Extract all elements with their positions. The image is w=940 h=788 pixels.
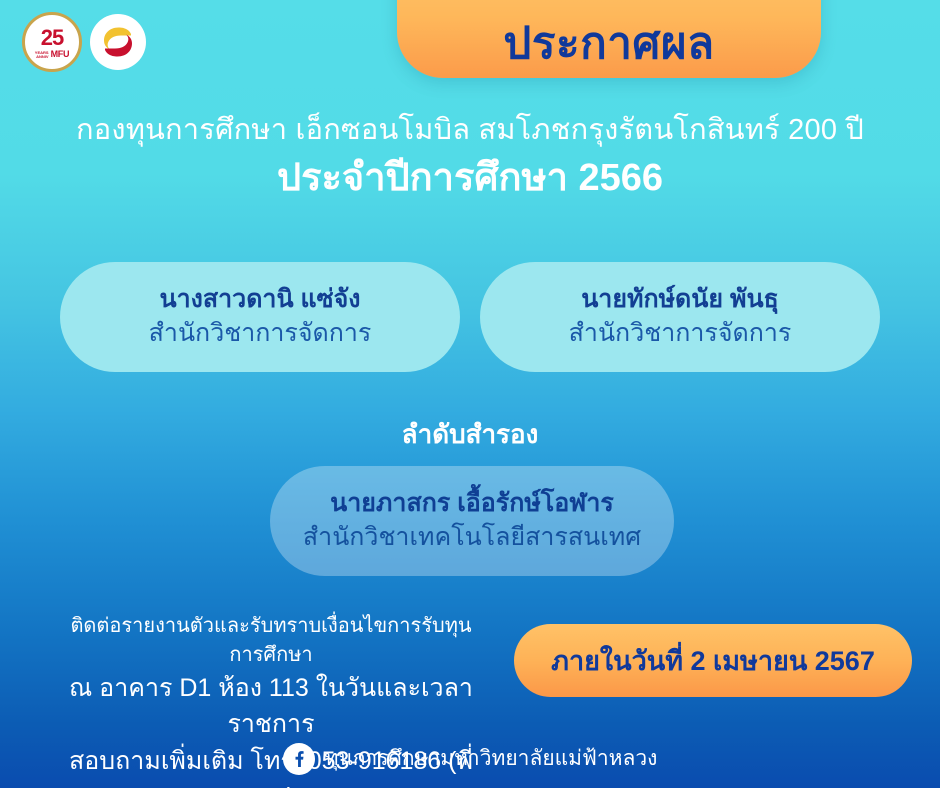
deadline-label: ภายในวันที่ 2 เมษายน 2567 [551,639,875,682]
academic-year-subtitle: ประจำปีการศึกษา 2566 [0,154,940,203]
winner-card-list: นางสาวดานิ แซ่จัง สำนักวิชาการจัดการ นาย… [60,262,880,372]
reserve-heading: ลำดับสำรอง [0,414,940,455]
reserve-card: นายภาสกร เอื้อรักษ์โอฬาร สำนักวิชาเทคโนโ… [270,466,674,576]
footer-social[interactable]: ทุนการศึกษามหาวิทยาลัยแม่ฟ้าหลวง [0,742,940,775]
winner-school: สำนักวิชาการจัดการ [149,317,372,350]
mfu-logo-number: 25 [41,27,63,49]
winner-school: สำนักวิชาการจัดการ [569,317,792,350]
reserve-name: นายภาสกร เอื้อรักษ์โอฬาร [330,488,614,519]
logo-row: 25 YEARS ANNIV MFU [22,12,146,72]
contact-line-2: ณ อาคาร D1 ห้อง 113 ในวันและเวลาราชการ [56,670,486,743]
facebook-page-name: ทุนการศึกษามหาวิทยาลัยแม่ฟ้าหลวง [325,742,658,775]
reserve-school: สำนักวิชาเทคโนโลยีสารสนเทศ [303,521,641,554]
mfu-logo-abbr: MFU [51,50,70,59]
deadline-badge: ภายในวันที่ 2 เมษายน 2567 [514,624,912,697]
contact-line-1: ติดต่อรายงานตัวและรับทราบเงื่อนไขการรับท… [56,612,486,670]
winner-card: นางสาวดานิ แซ่จัง สำนักวิชาการจัดการ [60,262,460,372]
page-title: กองทุนการศึกษา เอ็กซอนโมบิล สมโภชกรุงรัต… [0,112,940,148]
mfu-25th-anniversary-logo: 25 YEARS ANNIV MFU [22,12,82,72]
winner-name: นายทักษ์ดนัย พันธุ [581,284,779,315]
mfu-logo-years-text: YEARS ANNIV [35,51,49,59]
winner-name: นางสาวดานิ แซ่จัง [160,284,361,315]
facebook-glyph-icon [284,744,314,774]
s-swirl-icon [95,19,141,65]
facebook-icon[interactable] [283,743,315,775]
mfu-logo-subtext: YEARS ANNIV MFU [35,50,69,59]
poster-canvas: 25 YEARS ANNIV MFU ประกาศผล กองทุนการศึก… [0,0,940,788]
announcement-banner: ประกาศผล [397,0,821,78]
s-swirl-logo [90,14,146,70]
banner-title: ประกาศผล [503,22,714,66]
title-block: กองทุนการศึกษา เอ็กซอนโมบิล สมโภชกรุงรัต… [0,112,940,204]
winner-card: นายทักษ์ดนัย พันธุ สำนักวิชาการจัดการ [480,262,880,372]
